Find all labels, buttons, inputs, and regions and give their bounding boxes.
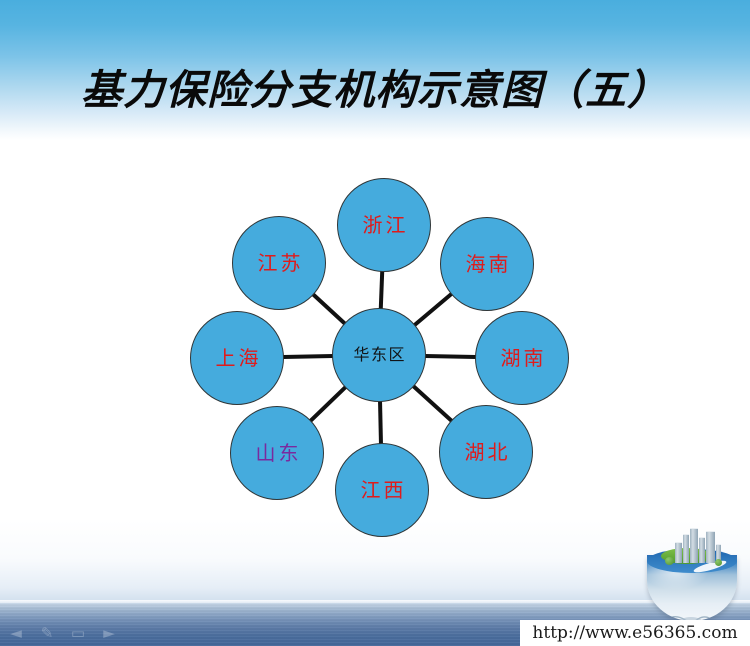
node-label: 华东区 bbox=[352, 347, 406, 363]
globe-map-outline bbox=[661, 607, 735, 621]
diagram-node-5[interactable]: 山东 bbox=[230, 406, 324, 500]
node-label: 江苏 bbox=[255, 253, 304, 273]
connector-line-4 bbox=[380, 401, 381, 444]
connector-line-0 bbox=[381, 271, 382, 309]
diagram-node-2[interactable]: 湖南 bbox=[475, 311, 569, 405]
connector-line-5 bbox=[310, 387, 346, 421]
globe-city-logo bbox=[641, 527, 745, 623]
connector-line-1 bbox=[414, 294, 452, 326]
diagram-node-4[interactable]: 江西 bbox=[335, 443, 429, 537]
slide-menu-button[interactable]: ▭ bbox=[69, 625, 87, 641]
connector-line-6 bbox=[283, 356, 333, 357]
building bbox=[675, 542, 682, 563]
pen-tool-button[interactable]: ✎ bbox=[38, 625, 56, 641]
previous-slide-button[interactable]: ◄ bbox=[7, 625, 25, 641]
node-label: 江西 bbox=[358, 480, 407, 500]
node-label: 海南 bbox=[463, 254, 512, 274]
node-label: 湖北 bbox=[462, 442, 511, 462]
next-slide-button[interactable]: ► bbox=[100, 625, 118, 641]
watermark-url-text: http://www.e56365.com bbox=[532, 623, 737, 643]
org-structure-diagram: 浙江海南湖南湖北江西山东上海江苏华东区 bbox=[0, 0, 750, 646]
node-label: 上海 bbox=[213, 348, 262, 368]
building bbox=[690, 528, 698, 563]
building bbox=[706, 531, 715, 563]
watermark-url-box: http://www.e56365.com bbox=[520, 620, 750, 646]
diagram-node-0[interactable]: 浙江 bbox=[337, 178, 431, 272]
building bbox=[683, 534, 689, 563]
building bbox=[699, 537, 705, 563]
tree-icon bbox=[665, 557, 674, 565]
connector-line-7 bbox=[313, 294, 345, 324]
slideshow-controls[interactable]: ◄✎▭► bbox=[7, 623, 119, 643]
connector-line-2 bbox=[425, 356, 476, 357]
node-label: 山东 bbox=[253, 443, 302, 463]
diagram-node-center[interactable]: 华东区 bbox=[332, 308, 426, 402]
node-label: 浙江 bbox=[360, 215, 409, 235]
tree-icon bbox=[715, 559, 722, 566]
city-skyline bbox=[673, 529, 721, 563]
node-label: 湖南 bbox=[498, 348, 547, 368]
diagram-node-1[interactable]: 海南 bbox=[440, 217, 534, 311]
diagram-node-7[interactable]: 江苏 bbox=[232, 216, 326, 310]
presentation-slide: 基力保险分支机构示意图（五） 浙江海南湖南湖北江西山东上海江苏华东区 bbox=[0, 0, 750, 646]
diagram-node-3[interactable]: 湖北 bbox=[439, 405, 533, 499]
diagram-node-6[interactable]: 上海 bbox=[190, 311, 284, 405]
connector-line-3 bbox=[413, 386, 452, 421]
